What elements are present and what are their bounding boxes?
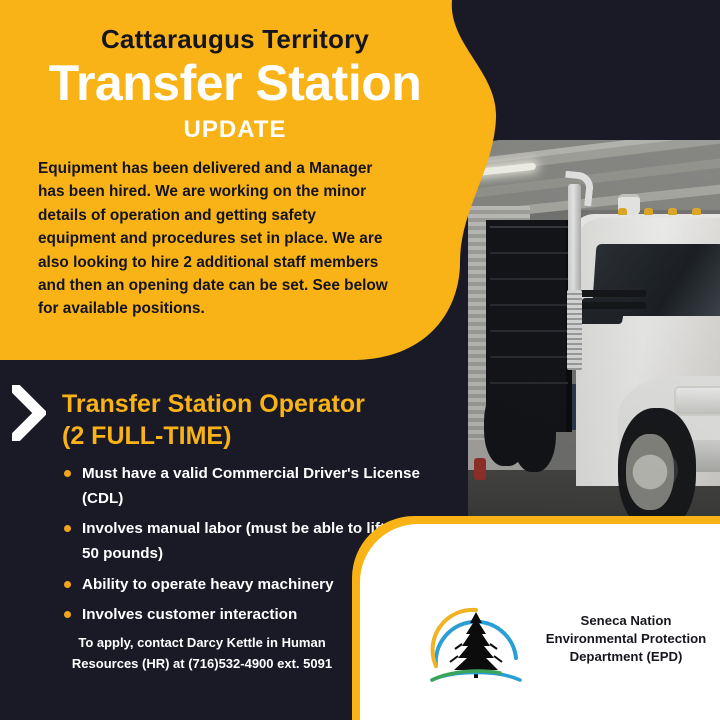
footer-org-line1: Seneca Nation	[538, 612, 714, 630]
job-title-line1: Transfer Station Operator	[62, 388, 422, 420]
contact-line1: To apply, contact Darcy Kettle in Human	[24, 632, 380, 653]
footer-org-name: Seneca Nation Environmental Protection D…	[538, 612, 714, 667]
poster: Cattaraugus Territory Transfer Station U…	[0, 0, 720, 720]
page-title: Transfer Station	[0, 57, 470, 110]
truck-wheel-rim	[626, 434, 674, 510]
intro-paragraph: Equipment has been delivered and a Manag…	[38, 157, 396, 321]
list-item: Must have a valid Commercial Driver's Li…	[62, 462, 444, 511]
footer-org-line3: Department (EPD)	[538, 648, 714, 666]
header-block: Cattaraugus Territory Transfer Station U…	[0, 0, 470, 144]
job-title: Transfer Station Operator (2 FULL-TIME)	[62, 388, 422, 452]
footer-org-line2: Environmental Protection	[538, 630, 714, 648]
update-label: UPDATE	[0, 116, 470, 144]
fire-extinguisher	[474, 458, 486, 480]
seneca-nation-epd-logo-icon	[424, 596, 528, 688]
chevron-right-icon	[12, 385, 46, 441]
job-title-line2: (2 FULL-TIME)	[62, 420, 422, 452]
contact-info: To apply, contact Darcy Kettle in Human …	[24, 632, 380, 674]
contact-line2: Resources (HR) at (716)532-4900 ext. 509…	[24, 653, 380, 674]
header-kicker: Cattaraugus Territory	[0, 24, 470, 55]
